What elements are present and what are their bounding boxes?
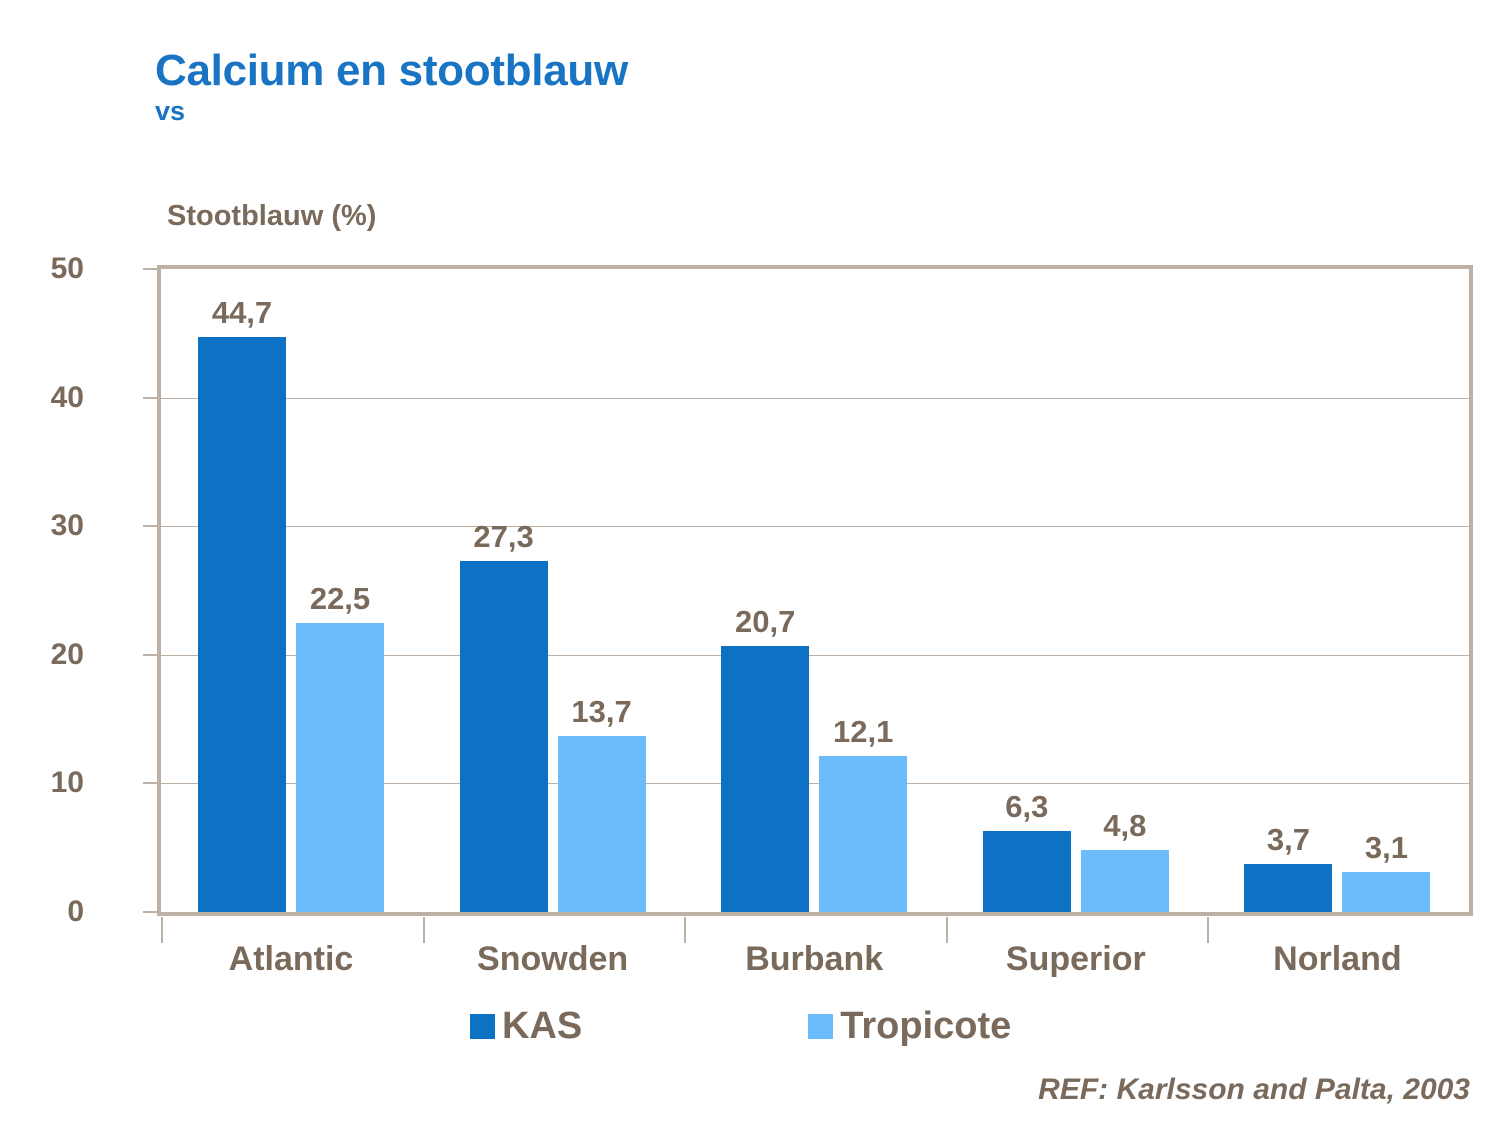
y-axis-tick-mark [143, 654, 157, 656]
y-axis-tick-mark [143, 525, 157, 527]
bar-burbank-kas[interactable] [721, 646, 809, 912]
bar-value-label: 44,7 [212, 295, 272, 331]
legend-swatch-icon-kas [470, 1014, 495, 1039]
bar-snowden-tropicote[interactable] [558, 736, 646, 912]
bar-value-label: 3,7 [1267, 822, 1310, 858]
y-axis-tick-mark [143, 397, 157, 399]
legend-item-tropicote[interactable]: Tropicote [808, 1005, 1011, 1048]
x-axis-edge-tick [161, 917, 163, 943]
bar-value-label: 3,1 [1365, 830, 1408, 866]
y-axis-tick-label: 0 [14, 895, 84, 929]
bar-norland-tropicote[interactable] [1342, 872, 1430, 912]
bar-value-label: 12,1 [833, 714, 893, 750]
legend-label-kas: KAS [502, 1005, 582, 1048]
legend-item-kas[interactable]: KAS [470, 1005, 582, 1048]
page-subtitle: vs [155, 97, 628, 125]
reference-note: REF: Karlsson and Palta, 2003 [1038, 1073, 1470, 1107]
chart-plot-area: 44,722,527,313,720,712,16,34,83,73,1 [157, 265, 1473, 916]
bar-atlantic-kas[interactable] [198, 337, 286, 912]
bar-burbank-tropicote[interactable] [819, 756, 907, 912]
bar-value-label: 13,7 [571, 694, 631, 730]
gridline [161, 398, 1469, 399]
y-axis-tick-label: 30 [14, 509, 84, 543]
y-axis-title: Stootblauw (%) [167, 200, 376, 233]
x-axis-separator-tick [946, 917, 948, 943]
chart-plot-inner: 44,722,527,313,720,712,16,34,83,73,1 [161, 269, 1469, 912]
bar-value-label: 27,3 [473, 519, 533, 555]
legend-swatch-icon-tropicote [808, 1014, 833, 1039]
bar-value-label: 4,8 [1103, 808, 1146, 844]
y-axis-tick-mark [143, 782, 157, 784]
bar-superior-tropicote[interactable] [1081, 850, 1169, 912]
bar-value-label: 20,7 [735, 604, 795, 640]
x-axis-category-label-burbank: Burbank [745, 940, 883, 979]
x-axis-separator-tick [1207, 917, 1209, 943]
x-axis-category-label-superior: Superior [1006, 940, 1146, 979]
title-block: Calcium en stootblauw vs [155, 48, 628, 125]
y-axis-tick-label: 40 [14, 381, 84, 415]
x-axis-category-label-norland: Norland [1273, 940, 1401, 979]
bar-atlantic-tropicote[interactable] [296, 623, 384, 912]
chart-legend: KAS Tropicote [470, 1005, 1011, 1048]
x-axis-separator-tick [423, 917, 425, 943]
bar-value-label: 6,3 [1005, 789, 1048, 825]
legend-label-tropicote: Tropicote [840, 1005, 1011, 1048]
y-axis-tick-mark [143, 911, 157, 913]
gridline [161, 526, 1469, 527]
x-axis-category-label-atlantic: Atlantic [229, 940, 354, 979]
y-axis-tick-mark [143, 268, 157, 270]
page-title: Calcium en stootblauw [155, 48, 628, 95]
y-axis-tick-label: 20 [14, 638, 84, 672]
bar-value-label: 22,5 [310, 581, 370, 617]
y-axis-tick-label: 50 [14, 252, 84, 286]
bar-superior-kas[interactable] [983, 831, 1071, 912]
bar-snowden-kas[interactable] [460, 561, 548, 912]
y-axis-tick-label: 10 [14, 766, 84, 800]
x-axis-separator-tick [684, 917, 686, 943]
bar-norland-kas[interactable] [1244, 864, 1332, 912]
x-axis-category-label-snowden: Snowden [477, 940, 628, 979]
